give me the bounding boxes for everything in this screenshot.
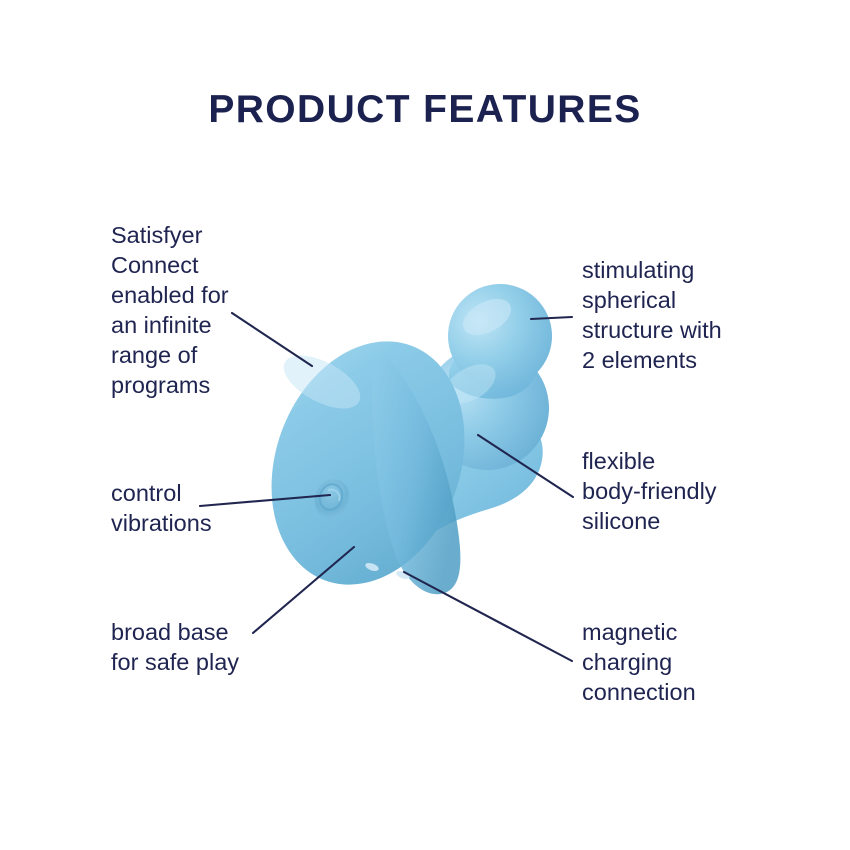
feature-label-spherical-structure: stimulating spherical structure with 2 e… <box>582 255 782 375</box>
product-features-infographic: PRODUCT FEATURES <box>0 0 850 850</box>
feature-label-control-vibrations: control vibrations <box>111 478 286 538</box>
product-shape <box>239 270 566 611</box>
feature-label-magnetic-charging: magnetic charging connection <box>582 617 782 707</box>
leader-line-magnetic <box>404 572 572 661</box>
feature-label-connect: Satisfyer Connect enabled for an infinit… <box>111 220 286 400</box>
feature-label-flexible-silicone: flexible body-friendly silicone <box>582 446 787 536</box>
feature-label-broad-base: broad base for safe play <box>111 617 311 677</box>
product-illustration <box>0 0 850 850</box>
